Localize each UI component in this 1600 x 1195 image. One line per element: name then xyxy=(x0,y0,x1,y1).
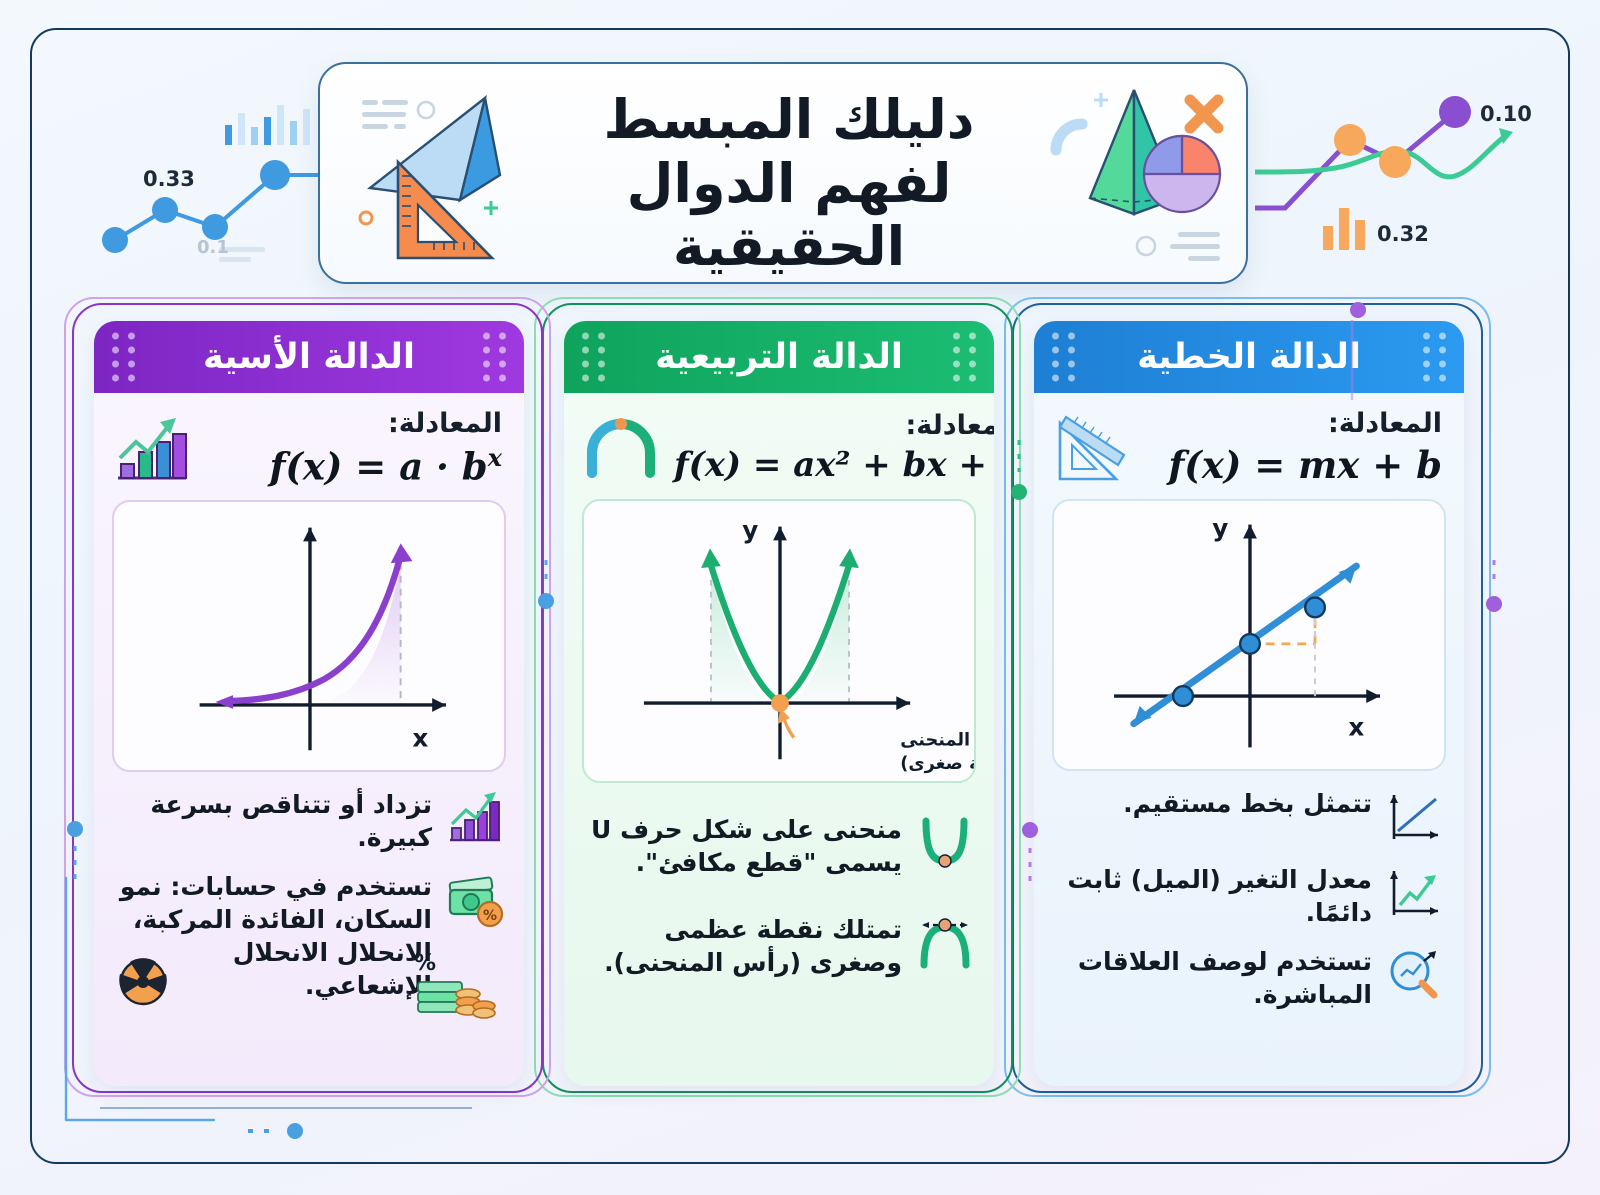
svg-text:y: y xyxy=(742,515,758,544)
equation-base: f(x) = a · b xyxy=(269,444,487,488)
list-item: منحنى على شكل حرف U يسمى "قطع مكافئ". xyxy=(582,813,976,879)
u-parabola-icon xyxy=(914,813,976,873)
list-item-text: منحنى على شكل حرف U يسمى "قطع مكافئ". xyxy=(582,813,902,879)
list-item: تتمثل بخط مستقيم. xyxy=(1052,787,1446,847)
equation-label: المعادلة: xyxy=(1144,407,1442,441)
equation-formula: f(x) = mx + b xyxy=(1144,443,1442,487)
card-linear-title: الدالة الخطية xyxy=(1137,337,1361,377)
card-exponential-title: الدالة الأسية xyxy=(203,337,415,377)
function-cards: الدالة الخطية المعادلة: f(x) = mx + b xyxy=(60,305,1540,1115)
banner-left-icons xyxy=(340,80,550,270)
svg-text:(نقطة صغرى): (نقطة صغرى) xyxy=(900,754,974,774)
list-item: تمتلك نقطة عظمى وصغرى (رأس المنحنى). xyxy=(582,913,976,979)
svg-text:x: x xyxy=(1348,713,1364,742)
header-banner: دليلك المبسط لفهم الدوال الحقيقية xyxy=(318,62,1248,284)
card-linear-header: الدالة الخطية xyxy=(1034,321,1464,393)
equation-label: المعادلة: xyxy=(204,407,502,441)
dot-grid-icon xyxy=(1423,333,1446,382)
dot-grid-icon xyxy=(483,333,506,382)
banner-right-icons xyxy=(1038,74,1238,270)
svg-text:y: y xyxy=(1212,513,1228,542)
dot-grid-icon xyxy=(112,333,135,382)
money-percent-icon: % xyxy=(444,870,506,930)
exponential-graph: x xyxy=(112,500,506,772)
pie-chart-icon xyxy=(1144,136,1220,212)
card-linear: الدالة الخطية المعادلة: f(x) = mx + b xyxy=(1020,305,1475,1110)
card-quadratic: الدالة التربيعية المعادلة: f(x) = ax² + … xyxy=(550,305,1005,1110)
plus-green-icon xyxy=(484,201,498,215)
card-quadratic-title: الدالة التربيعية xyxy=(655,337,903,377)
dot-grid-icon xyxy=(953,333,976,382)
svg-text:x: x xyxy=(412,723,428,752)
money-stack-percent-icon: % xyxy=(412,950,498,1026)
small-orange-circle-icon xyxy=(360,212,372,224)
plus-blue-icon xyxy=(1094,93,1108,107)
title-line-2: لفهم الدوال الحقيقية xyxy=(568,152,1010,279)
list-item-text: تمتلك نقطة عظمى وصغرى (رأس المنحنى). xyxy=(582,913,902,979)
vertex-arch-icon xyxy=(914,913,976,973)
equation-exponent: x xyxy=(488,443,502,472)
card-linear-bullets: تتمثل بخط مستقيم. xyxy=(1034,771,1464,1037)
magnifier-chart-icon xyxy=(1384,945,1446,1005)
svg-text:%: % xyxy=(483,908,497,924)
arch-parabola-icon xyxy=(578,407,664,487)
card-exponential: الدالة الأسية المعادلة: f(x) = a · bx xyxy=(80,305,535,1110)
card-exponential-header: الدالة الأسية xyxy=(94,321,524,393)
list-item: تزداد أو تتناقص بسرعة كبيرة. xyxy=(112,788,506,854)
card-linear-equation-row: المعادلة: f(x) = mx + b xyxy=(1034,393,1464,493)
decorative-right-chart: 0.10 0.32 xyxy=(1255,80,1575,280)
circle-outline-icon xyxy=(418,102,434,118)
page-title: دليلك المبسط لفهم الدوال الحقيقية xyxy=(568,88,1010,279)
card-exponential-bullets: تزداد أو تتناقص بسرعة كبيرة. % xyxy=(94,772,524,1052)
list-item-text: تتمثل بخط مستقيم. xyxy=(1052,787,1372,820)
text-lines-icon xyxy=(1170,232,1220,261)
equation-formula: f(x) = ax² + bx + c xyxy=(674,445,994,485)
card-quadratic-bullets: منحنى على شكل حرف U يسمى "قطع مكافئ". xyxy=(564,783,994,1005)
dot-grid-icon xyxy=(1052,333,1075,382)
card-quadratic-header: الدالة التربيعية xyxy=(564,321,994,393)
list-item-text: معدل التغير (الميل) ثابت دائمًا. xyxy=(1052,863,1372,929)
quadratic-graph: y رأس المنحنى (نقطة صغرى) xyxy=(582,499,976,783)
bar-chart-growth-icon xyxy=(444,788,506,848)
svg-text:%: % xyxy=(414,951,436,976)
arc-blue-icon xyxy=(1056,124,1082,150)
ruler-triangle-icon xyxy=(1048,407,1134,487)
equation-formula: f(x) = a · bx xyxy=(204,443,502,488)
radioactive-icon xyxy=(112,950,174,1010)
text-lines-icon xyxy=(362,100,408,129)
line-chart-up-icon xyxy=(1384,787,1446,847)
title-line-1: دليلك المبسط xyxy=(568,88,1010,152)
card-exponential-equation-row: المعادلة: f(x) = a · bx xyxy=(94,393,524,494)
decorative-left-label-small: 0.1 xyxy=(197,237,229,258)
card-quadratic-equation-row: المعادلة: f(x) = ax² + bx + c xyxy=(564,393,994,493)
growth-arrow-icon xyxy=(1384,863,1446,923)
list-item: معدل التغير (الميل) ثابت دائمًا. xyxy=(1052,863,1446,929)
equation-label: المعادلة: xyxy=(674,409,994,443)
close-x-icon xyxy=(1190,100,1218,128)
decorative-right-label-small: 0.32 xyxy=(1377,222,1429,246)
list-item: تستخدم لوصف العلاقات المباشرة. xyxy=(1052,945,1446,1011)
svg-text:رأس المنحنى: رأس المنحنى xyxy=(900,728,974,751)
dot-grid-icon xyxy=(582,333,605,382)
bar-chart-growth-icon xyxy=(108,408,194,488)
linear-graph: y x xyxy=(1052,499,1446,771)
infographic-poster: 0.33 0.1 0.10 0.32 xyxy=(0,0,1600,1195)
circle-outline-icon xyxy=(1137,237,1155,255)
decorative-right-label-big: 0.10 xyxy=(1480,102,1532,126)
list-item-text: تستخدم لوصف العلاقات المباشرة. xyxy=(1052,945,1372,1011)
list-item-text: تزداد أو تتناقص بسرعة كبيرة. xyxy=(112,788,432,854)
decorative-left-label-big: 0.33 xyxy=(143,167,195,191)
